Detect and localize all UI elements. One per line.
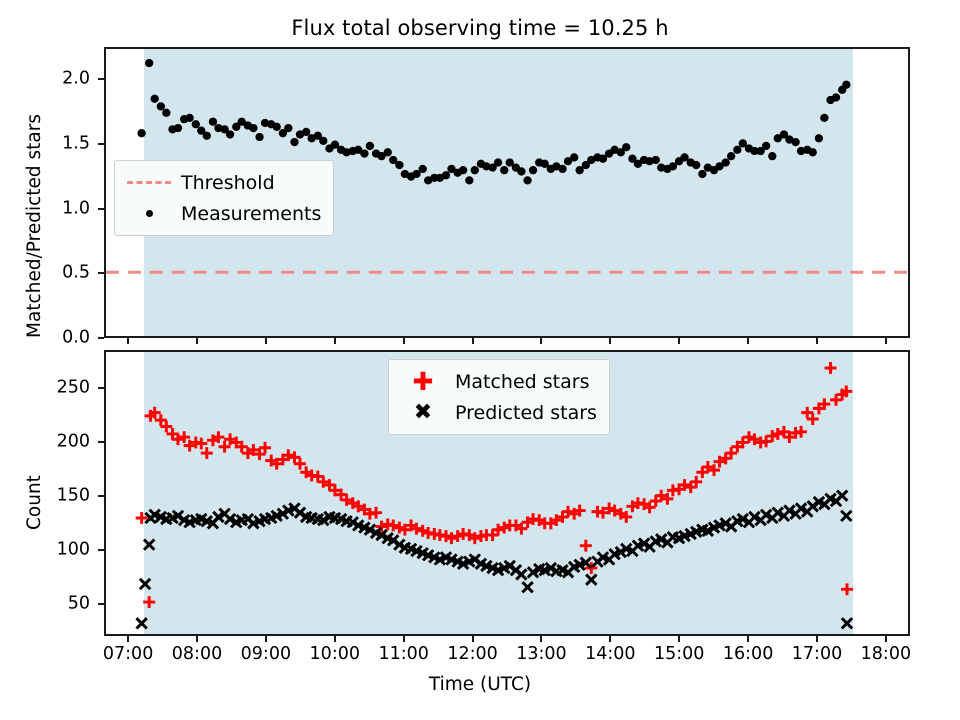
dashed-line-icon xyxy=(123,181,175,184)
y-tick-mark xyxy=(98,441,104,443)
x-tick-mark xyxy=(403,338,405,344)
x-tick-mark xyxy=(472,636,474,642)
x-tick-mark xyxy=(609,338,611,344)
x-tick-mark xyxy=(334,338,336,344)
y-tick-label: 200 xyxy=(57,433,90,451)
x-tick-label: 10:00 xyxy=(310,644,360,664)
x-tick-label: 17:00 xyxy=(792,644,842,664)
x-tick-label: 08:00 xyxy=(172,644,222,664)
y-tick-label: 1.0 xyxy=(62,200,90,218)
x-tick-mark xyxy=(678,338,680,344)
y-tick-mark xyxy=(98,387,104,389)
figure-canvas: Flux total observing time = 10.25 h 0.00… xyxy=(0,0,960,720)
y-tick-label: 100 xyxy=(57,541,90,559)
legend-item-matched-stars[interactable]: ✚ Matched stars xyxy=(397,366,597,397)
x-tick-label: 15:00 xyxy=(654,644,704,664)
legend-label-matched-stars: Matched stars xyxy=(455,371,589,393)
legend-item-predicted-stars[interactable]: ✖ Predicted stars xyxy=(397,397,597,428)
x-tick-mark xyxy=(747,636,749,642)
y-tick-label: 150 xyxy=(57,487,90,505)
legend-item-measurements[interactable]: Measurements xyxy=(123,198,321,229)
legend-label-threshold: Threshold xyxy=(181,172,275,194)
x-tick-mark xyxy=(816,636,818,642)
x-tick-label: 13:00 xyxy=(516,644,566,664)
x-tick-label: 12:00 xyxy=(447,644,497,664)
legend-label-predicted-stars: Predicted stars xyxy=(455,402,597,424)
y-tick-mark xyxy=(98,603,104,605)
x-tick-mark xyxy=(403,636,405,642)
y-tick-label: 1.5 xyxy=(62,135,90,153)
x-tick-label: 14:00 xyxy=(585,644,635,664)
y-tick-mark xyxy=(98,337,104,339)
dot-marker-icon xyxy=(123,210,175,217)
x-tick-mark xyxy=(885,338,887,344)
y-tick-label: 0.0 xyxy=(62,329,90,347)
x-tick-mark xyxy=(540,338,542,344)
x-tick-mark xyxy=(334,636,336,642)
x-axis-label: Time (UTC) xyxy=(0,674,960,695)
y-tick-label: 2.0 xyxy=(62,71,90,89)
top-panel-legend: Threshold Measurements xyxy=(114,160,334,236)
top-panel-y-axis-label: Matched/Predicted stars xyxy=(24,114,45,338)
x-tick-mark xyxy=(816,338,818,344)
figure-title: Flux total observing time = 10.25 h xyxy=(0,16,960,40)
x-tick-label: 11:00 xyxy=(378,644,428,664)
x-tick-mark xyxy=(265,338,267,344)
y-tick-mark xyxy=(98,78,104,80)
x-tick-mark xyxy=(127,636,129,642)
bottom-panel-legend: ✚ Matched stars ✖ Predicted stars xyxy=(388,359,610,435)
y-tick-label: 250 xyxy=(57,379,90,397)
x-tick-label: 18:00 xyxy=(861,644,911,664)
y-tick-mark xyxy=(98,495,104,497)
plus-marker-icon: ✚ xyxy=(397,372,449,392)
x-tick-mark xyxy=(885,636,887,642)
y-tick-label: 0.5 xyxy=(62,265,90,283)
x-tick-mark xyxy=(747,338,749,344)
x-tick-mark xyxy=(609,636,611,642)
x-tick-label: 16:00 xyxy=(723,644,773,664)
x-tick-mark xyxy=(678,636,680,642)
x-tick-mark xyxy=(472,338,474,344)
top-panel-y-ticklabels: 0.00.51.01.52.0 xyxy=(0,47,90,338)
x-tick-mark xyxy=(196,338,198,344)
x-tick-mark xyxy=(540,636,542,642)
y-tick-mark xyxy=(98,549,104,551)
x-tick-label: 07:00 xyxy=(103,644,153,664)
legend-label-measurements: Measurements xyxy=(181,203,321,225)
x-tick-mark xyxy=(265,636,267,642)
legend-item-threshold[interactable]: Threshold xyxy=(123,167,321,198)
y-tick-mark xyxy=(98,143,104,145)
y-tick-mark xyxy=(98,208,104,210)
x-tick-label: 09:00 xyxy=(241,644,291,664)
bottom-panel-y-ticklabels: 50100150200250 xyxy=(0,350,90,636)
y-tick-mark xyxy=(98,272,104,274)
bottom-panel-y-axis-label: Count xyxy=(24,475,45,530)
x-tick-mark xyxy=(196,636,198,642)
cross-marker-icon: ✖ xyxy=(397,404,449,422)
y-tick-label: 50 xyxy=(68,595,90,613)
x-tick-mark xyxy=(127,338,129,344)
